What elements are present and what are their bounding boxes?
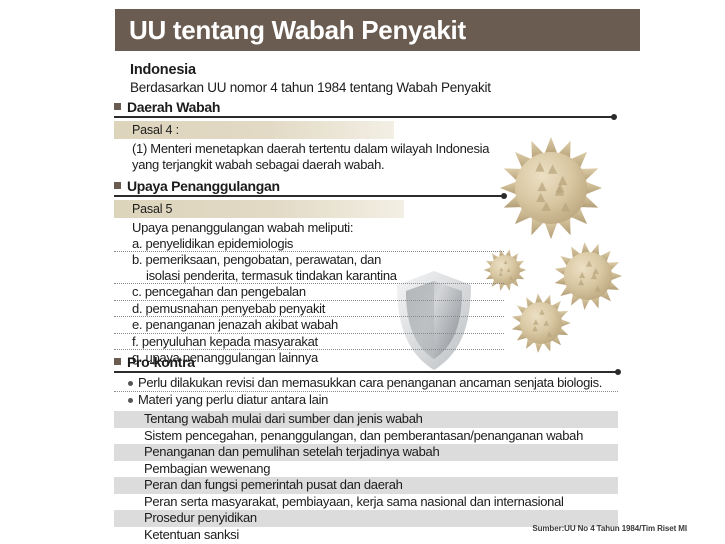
pro-kontra-bullet: Materi yang perlu diatur antara lain <box>114 392 618 408</box>
upaya-item: e. penanganan jenazah akibat wabah <box>114 317 504 334</box>
pasal-text-line: yang terjangkit wabah sebagai daerah wab… <box>114 157 614 173</box>
section-rule <box>114 116 614 118</box>
section-rule <box>114 195 504 197</box>
upaya-item-continuation: isolasi penderita, termasuk tindakan kar… <box>132 268 504 284</box>
section-daerah-wabah: Daerah Wabah Pasal 4 : (1) Menteri menet… <box>114 98 614 172</box>
subject-name: Indonesia <box>130 62 196 78</box>
section-title: Pro-kontra <box>127 354 195 370</box>
section-title: Daerah Wabah <box>127 99 220 115</box>
square-bullet-icon <box>114 358 121 365</box>
slide-content: Indonesia Berdasarkan UU nomor 4 tahun 1… <box>0 0 725 544</box>
section-pro-kontra: Pro-kontra Perlu dilakukan revisi dan me… <box>114 353 618 543</box>
upaya-item-label: d. pemusnahan penyebab penyakit <box>132 301 325 316</box>
upaya-item-label: b. pemeriksaan, pengobatan, perawatan, d… <box>132 252 381 267</box>
section-heading-upaya-penanggulangan: Upaya Penanggulangan <box>114 177 504 194</box>
upaya-item-label: a. penyelidikan epidemiologis <box>132 236 293 251</box>
upaya-item: f. penyuluhan kepada masyarakat <box>114 334 504 351</box>
section-heading-pro-kontra: Pro-kontra <box>114 353 618 370</box>
materi-row: Peran dan fungsi pemerintah pusat dan da… <box>114 477 618 494</box>
source-credit: Sumber:UU No 4 Tahun 1984/Tim Riset MI <box>532 524 687 533</box>
upaya-item-list: a. penyelidikan epidemiologisb. pemeriks… <box>114 236 504 366</box>
materi-row: Pembagian wewenang <box>114 461 618 478</box>
upaya-item: d. pemusnahan penyebab penyakit <box>114 301 504 318</box>
upaya-item-label: c. pencegahan dan pengebalan <box>132 284 306 299</box>
pasal-label: Pasal 5 <box>114 200 404 218</box>
round-bullet-icon <box>128 398 133 403</box>
upaya-intro: Upaya penanggulangan wabah meliputi: <box>114 220 504 236</box>
upaya-item: c. pencegahan dan pengebalan <box>114 284 504 301</box>
section-title: Upaya Penanggulangan <box>127 178 280 194</box>
materi-row: Peran serta masyarakat, pembiayaan, kerj… <box>114 494 618 511</box>
section-heading-daerah-wabah: Daerah Wabah <box>114 98 614 115</box>
section-upaya-penanggulangan: Upaya Penanggulangan Pasal 5 Upaya penan… <box>114 177 504 366</box>
square-bullet-icon <box>114 182 121 189</box>
section-rule <box>114 371 618 373</box>
square-bullet-icon <box>114 103 121 110</box>
upaya-item: a. penyelidikan epidemiologis <box>114 236 504 253</box>
pro-kontra-bullet: Perlu dilakukan revisi dan memasukkan ca… <box>114 375 618 392</box>
materi-row: Penanganan dan pemulihan setelah terjadi… <box>114 444 618 461</box>
subject-subtitle: Berdasarkan UU nomor 4 tahun 1984 tentan… <box>130 80 491 95</box>
upaya-item-label: f. penyuluhan kepada masyarakat <box>132 334 318 349</box>
upaya-item: b. pemeriksaan, pengobatan, perawatan, d… <box>114 252 504 284</box>
upaya-item-label: e. penanganan jenazah akibat wabah <box>132 317 338 332</box>
pasal-label: Pasal 4 : <box>114 121 394 139</box>
pro-kontra-bullet-label: Materi yang perlu diatur antara lain <box>138 392 328 408</box>
materi-row: Tentang wabah mulai dari sumber dan jeni… <box>114 411 618 428</box>
materi-row: Sistem pencegahan, penanggulangan, dan p… <box>114 428 618 445</box>
pro-kontra-bullet-label: Perlu dilakukan revisi dan memasukkan ca… <box>138 375 602 391</box>
pro-kontra-bullet-list: Perlu dilakukan revisi dan memasukkan ca… <box>114 375 618 408</box>
pasal-text-line: (1) Menteri menetapkan daerah tertentu d… <box>114 141 614 157</box>
round-bullet-icon <box>128 381 133 386</box>
